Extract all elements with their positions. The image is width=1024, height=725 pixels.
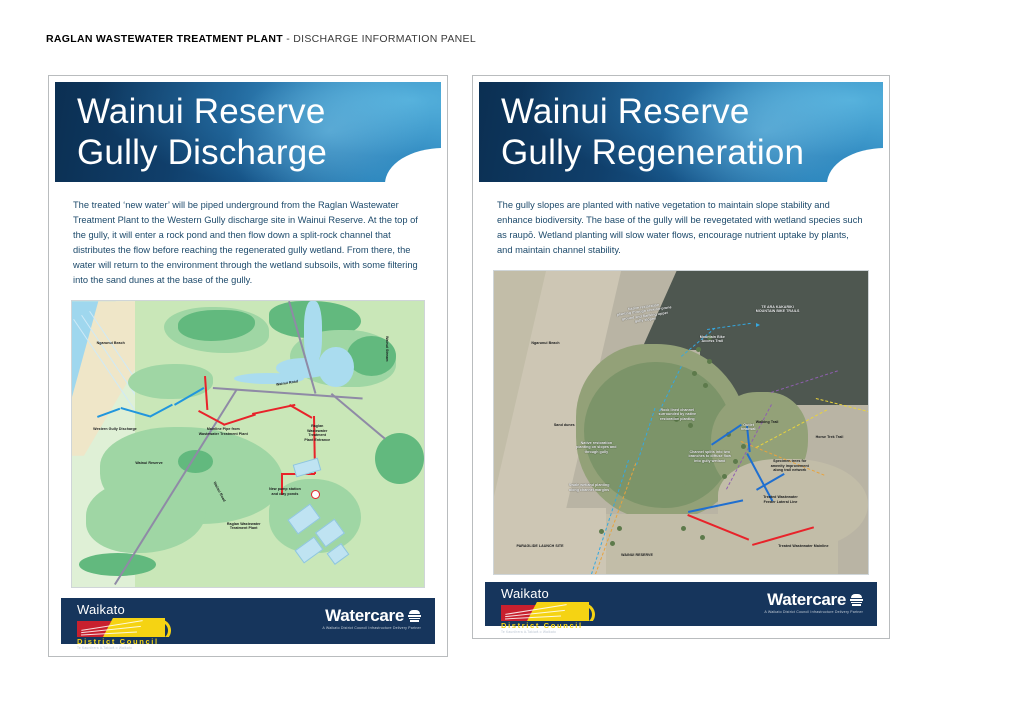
panel-footer: Waikato District Council Te Kaunihera ā-…: [485, 582, 877, 626]
emblem-bar: [409, 618, 420, 620]
watercare-name: Watercare: [325, 607, 404, 624]
map-label: Walking Trail: [756, 420, 779, 424]
panel-body-text: The gully slopes are planted with native…: [497, 198, 865, 258]
tree-icon: [599, 529, 604, 534]
map-label: Outlet headwall: [741, 423, 757, 432]
map-label: New pump station and clay ponds: [269, 487, 301, 496]
tree-icon: [681, 526, 686, 531]
map-label: Horse Trek Trail: [816, 435, 844, 439]
tree-icon: [696, 347, 701, 352]
map-label: Ngarunui Beach: [97, 341, 125, 345]
emblem-bar: [850, 599, 863, 601]
bush-patch: [128, 364, 212, 398]
document-title-rest: - DISCHARGE INFORMATION PANEL: [283, 33, 476, 45]
aerial-base: Ngarunui Beach Sand dunes Native restora…: [494, 271, 868, 574]
waikato-district-council-logo: Waikato District Council Te Kaunihera ā-…: [77, 603, 173, 651]
panel-header: Wainui Reserve Gully Regeneration: [479, 82, 883, 182]
map-label: WAINUI RESERVE: [621, 553, 653, 557]
council-name: Waikato: [77, 603, 173, 616]
document-title-bold: RAGLAN WASTEWATER TREATMENT PLANT: [46, 33, 283, 45]
map-label: Sand dunes: [554, 423, 575, 427]
emblem-cap: [409, 610, 420, 614]
watercare-row: Watercare: [764, 591, 863, 608]
panel-heading-line1: Wainui Reserve: [501, 92, 750, 131]
watercare-logo: Watercare A Waikato District Council Inf…: [764, 591, 863, 614]
stream: [318, 347, 353, 387]
map-label: TE ARA KAKARIKI MOUNTAIN BIKE TRAILS: [756, 305, 800, 314]
panel-heading: Wainui Reserve Gully Discharge: [77, 92, 327, 174]
map-label: PARAGLIDE LAUNCH SITE: [516, 544, 563, 548]
map-label: Swale wetland planting along channel mar…: [569, 483, 610, 492]
watercare-name: Watercare: [767, 591, 846, 608]
stream: [304, 301, 322, 364]
panel-gully-discharge: Wainui Reserve Gully Discharge The treat…: [48, 75, 448, 657]
map-label: Western Gully Discharge: [93, 427, 137, 431]
map-label: Raglan Wastewater Treatment Plant Entran…: [304, 424, 330, 442]
emblem-bar: [852, 604, 861, 606]
tree-icon: [741, 444, 746, 449]
emblem-bar: [410, 620, 419, 622]
topo-base: Ngarunui Beach Western Gully Discharge W…: [72, 301, 424, 587]
council-tagline: Te Kaunihera ā-Takiwā o Waikato: [77, 647, 173, 651]
map-regeneration: Ngarunui Beach Sand dunes Native restora…: [493, 270, 869, 575]
panel-heading-line2: Gully Regeneration: [501, 133, 804, 174]
map-discharge: Ngarunui Beach Western Gully Discharge W…: [71, 300, 425, 588]
waikato-district-council-logo: Waikato District Council Te Kaunihera ā-…: [501, 587, 597, 635]
map-label: Rock lined channel surrounded by native …: [659, 408, 697, 421]
map-label: Mainline Pipe from Wastewater Treatment …: [199, 427, 248, 436]
panel-heading: Wainui Reserve Gully Regeneration: [501, 92, 804, 174]
map-label: Wainui Reserve: [135, 461, 162, 465]
panel-body-text: The treated ‘new water’ will be piped un…: [73, 198, 423, 288]
map-label: Ngarunui Beach: [531, 341, 559, 345]
tree-icon: [700, 535, 705, 540]
council-subtitle: District Council: [501, 622, 597, 630]
watercare-tagline: A Waikato District Council Infrastructur…: [322, 626, 421, 630]
council-subtitle: District Council: [77, 638, 173, 646]
map-label: Native restoration planting on slopes an…: [576, 441, 616, 454]
map-label: Treated Wastewater Feeder Lateral Line: [763, 495, 798, 504]
emblem-cap: [851, 594, 862, 598]
council-emblem-icon: [501, 602, 597, 621]
map-label: Wainui Stream: [384, 336, 388, 361]
panel-gully-regeneration: Wainui Reserve Gully Regeneration The gu…: [472, 75, 890, 639]
map-label: Raglan Wastewater Treatment Plant: [227, 522, 261, 531]
watercare-tagline: A Waikato District Council Infrastructur…: [764, 610, 863, 614]
dune-flat: [494, 508, 606, 575]
panel-header: Wainui Reserve Gully Discharge: [55, 82, 441, 182]
council-name: Waikato: [501, 587, 597, 600]
map-label: Mountain Bike Access Trail: [700, 335, 725, 344]
emblem-bar: [408, 615, 421, 617]
watercare-row: Watercare: [322, 607, 421, 624]
council-emblem-icon: [77, 618, 173, 637]
map-label: Treated Wastewater Mainline: [778, 544, 828, 548]
watercare-emblem-icon: [408, 609, 421, 622]
council-tagline: Te Kaunihera ā-Takiwā o Waikato: [501, 631, 597, 635]
tree-icon: [610, 541, 615, 546]
bush-patch: [375, 433, 424, 484]
panel-inner: Wainui Reserve Gully Regeneration The gu…: [479, 82, 883, 632]
panel-heading-line2: Gully Discharge: [77, 133, 327, 174]
map-label: Channel splits into two branches to diff…: [688, 450, 731, 463]
panel-inner: Wainui Reserve Gully Discharge The treat…: [55, 82, 441, 650]
watercare-logo: Watercare A Waikato District Council Inf…: [322, 607, 421, 630]
watercare-emblem-icon: [850, 593, 863, 606]
emblem-bar: [851, 602, 862, 604]
document-title: RAGLAN WASTEWATER TREATMENT PLANT - DISC…: [46, 33, 476, 45]
panel-heading-line1: Wainui Reserve: [77, 92, 326, 131]
bush-patch: [79, 553, 156, 576]
flow-arrow-icon: [756, 323, 760, 327]
panel-footer: Waikato District Council Te Kaunihera ā-…: [61, 598, 435, 644]
poster-page: RAGLAN WASTEWATER TREATMENT PLANT - DISC…: [0, 0, 1024, 725]
map-label: Specimen trees for amenity improvement a…: [771, 459, 809, 472]
